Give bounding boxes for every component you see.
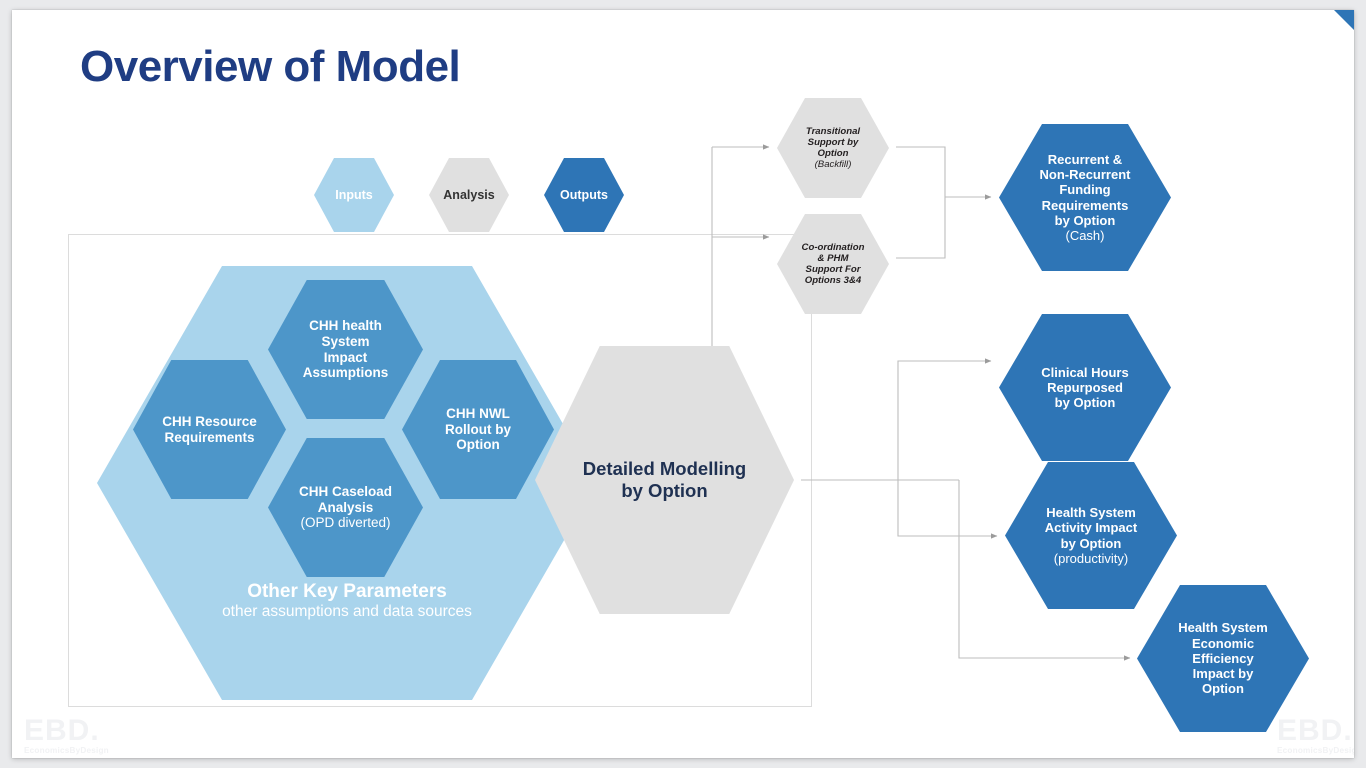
slide-canvas: Overview of Model Inputs Analysis Output… — [12, 10, 1354, 758]
output-node-clinical-hours-repurposed[interactable]: Clinical HoursRepurposedby Option — [999, 314, 1171, 461]
watermark-main-text: EBD. — [1277, 716, 1354, 746]
output-node-sublabel: (productivity) — [1054, 551, 1128, 566]
input-node-sublabel: (OPD diverted) — [300, 515, 390, 530]
legend-label-inputs: Inputs — [314, 188, 394, 203]
output-node-sublabel: (Cash) — [1065, 228, 1104, 243]
watermark-main-text: EBD. — [24, 716, 109, 746]
input-node-label: CHH ResourceRequirements — [133, 414, 286, 446]
analysis-node-transitional-support-by-option[interactable]: TransitionalSupport byOption (Backfill) — [777, 98, 889, 198]
legend-item-analysis[interactable]: Analysis — [429, 158, 509, 232]
output-node-text: Health SystemActivity Impactby Option (p… — [1005, 505, 1177, 566]
analysis-node-label: TransitionalSupport byOption — [806, 126, 860, 159]
input-group-title: Other Key Parameters — [247, 581, 447, 602]
legend-label-outputs: Outputs — [544, 188, 624, 203]
watermark-logo-right: EBD. EconomicsByDesign — [1277, 716, 1354, 755]
corner-accent — [1333, 10, 1354, 31]
watermark-logo-left: EBD. EconomicsByDesign — [24, 716, 109, 755]
output-node-funding-requirements[interactable]: Recurrent &Non-RecurrentFundingRequireme… — [999, 124, 1171, 271]
analysis-node-sublabel: (Backfill) — [815, 159, 852, 170]
analysis-node-label: Co-ordination& PHMSupport ForOptions 3&4 — [777, 242, 889, 287]
output-node-label: Clinical HoursRepurposedby Option — [999, 365, 1171, 411]
output-node-health-system-activity-impact[interactable]: Health SystemActivity Impactby Option (p… — [1005, 462, 1177, 609]
input-group-subtitle: other assumptions and data sources — [222, 603, 472, 620]
output-node-label: Recurrent &Non-RecurrentFundingRequireme… — [1039, 152, 1130, 228]
output-node-text: Recurrent &Non-RecurrentFundingRequireme… — [999, 152, 1171, 243]
page-title: Overview of Model — [80, 42, 460, 92]
input-node-text: CHH CaseloadAnalysis (OPD diverted) — [268, 484, 423, 531]
input-node-label: CHH CaseloadAnalysis — [299, 484, 392, 515]
input-node-label: CHH NWLRollout byOption — [402, 406, 554, 453]
analysis-node-text: TransitionalSupport byOption (Backfill) — [777, 126, 889, 171]
output-node-label: Health SystemActivity Impactby Option — [1045, 505, 1137, 550]
output-node-health-system-economic-efficiency[interactable]: Health SystemEconomicEfficiencyImpact by… — [1137, 585, 1309, 732]
watermark-sub-text: EconomicsByDesign — [1277, 746, 1354, 755]
legend-item-outputs[interactable]: Outputs — [544, 158, 624, 232]
legend-item-inputs[interactable]: Inputs — [314, 158, 394, 232]
analysis-node-label: Detailed Modellingby Option — [535, 458, 794, 501]
legend-label-analysis: Analysis — [429, 188, 509, 203]
input-node-label: CHH healthSystemImpactAssumptions — [268, 318, 423, 381]
watermark-sub-text: EconomicsByDesign — [24, 746, 109, 755]
output-node-label: Health SystemEconomicEfficiencyImpact by… — [1137, 620, 1309, 696]
